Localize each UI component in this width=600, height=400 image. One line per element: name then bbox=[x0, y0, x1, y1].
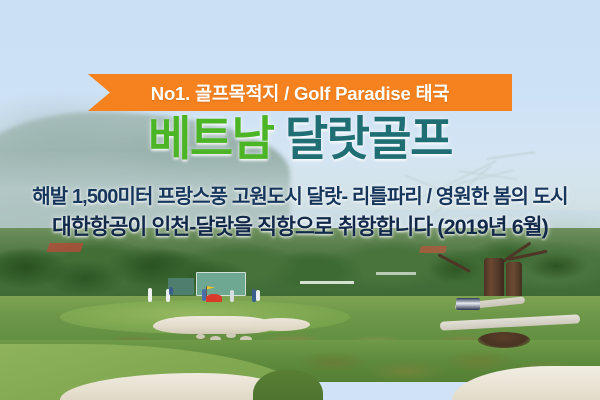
white-fence bbox=[300, 281, 354, 284]
headline-destination: 달랏골프 bbox=[285, 112, 452, 165]
white-fence-far bbox=[376, 272, 416, 275]
golfer-figure bbox=[256, 290, 260, 301]
golfer-figure bbox=[148, 288, 152, 302]
ribbon-label: No1. 골프목적지 / Golf Paradise 태국 bbox=[151, 80, 449, 106]
golf-cart bbox=[456, 298, 480, 310]
promo-ribbon: No1. 골프목적지 / Golf Paradise 태국 bbox=[88, 74, 512, 111]
headline-country: 베트남 bbox=[148, 112, 285, 165]
page-title: 베트남 달랏골프 bbox=[0, 115, 600, 162]
subtitle-primary: 해발 1,500미터 프랑스풍 고원도시 달랏- 리틀파리 / 영원한 봄의 도… bbox=[0, 180, 600, 209]
red-roof-building bbox=[47, 243, 84, 252]
golfer-figure bbox=[169, 287, 173, 295]
rock bbox=[226, 333, 236, 338]
subtitle-secondary: 대한항공이 인천-달랏을 직항으로 취항합니다 (2019년 6월) bbox=[0, 210, 600, 241]
golf-travel-banner: No1. 골프목적지 / Golf Paradise 태국 베트남 달랏골프 해… bbox=[0, 0, 600, 400]
red-umbrella bbox=[206, 294, 222, 302]
golfer-figure bbox=[230, 290, 234, 302]
tree-root-base bbox=[478, 332, 530, 348]
rock bbox=[196, 334, 205, 339]
